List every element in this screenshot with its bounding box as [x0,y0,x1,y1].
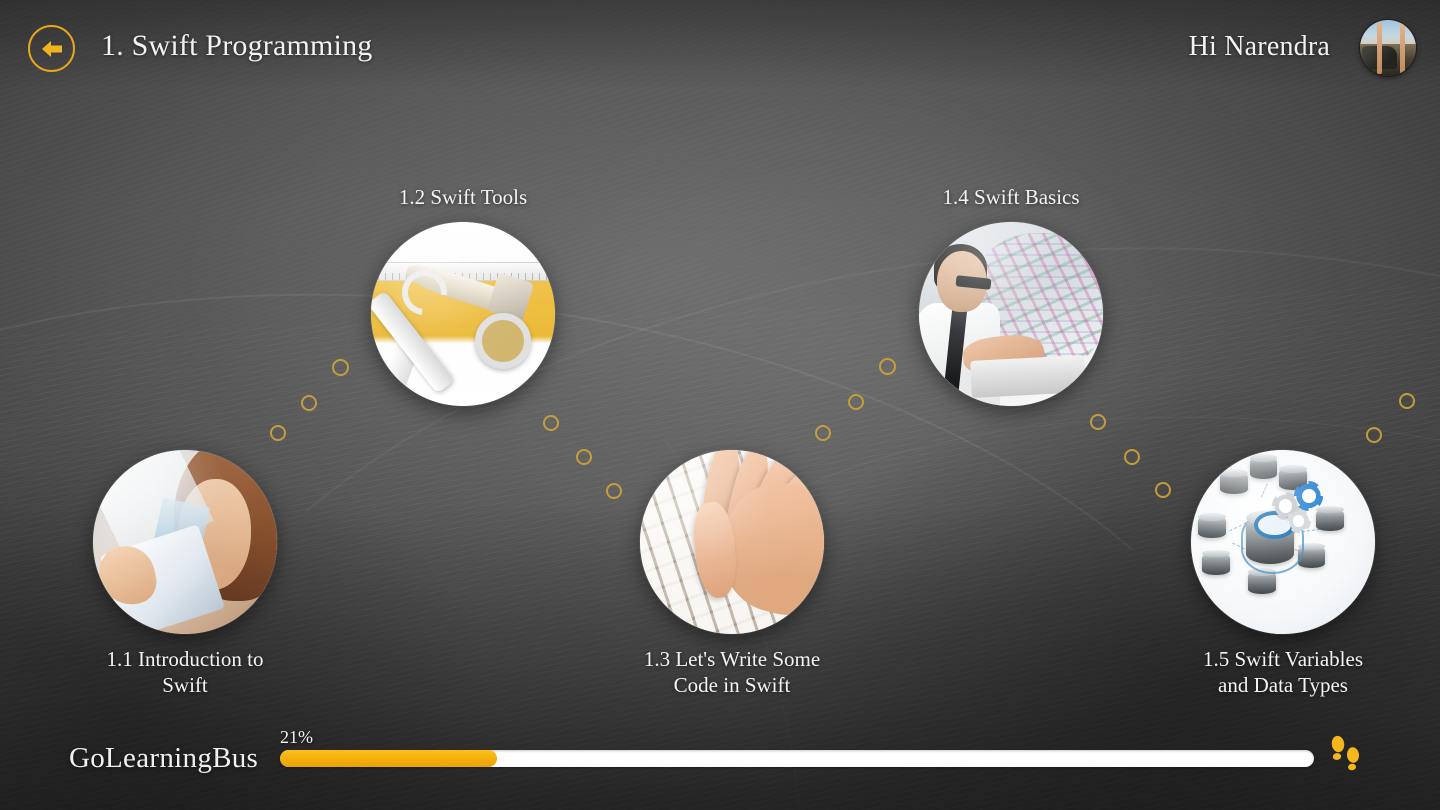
trail-ring [270,425,286,441]
topic-node-1-2[interactable]: 1.2 Swift Tools [371,222,555,406]
avatar-pole-right [1400,23,1405,73]
brand-label: GoLearningBus [69,742,258,775]
progress-percent-label: 21% [280,727,313,748]
topic-label: 1.2 Swift Tools [333,184,593,210]
progress-bar[interactable] [280,750,1314,767]
header-bar: 1. Swift Programming Hi Narendra [0,0,1440,96]
topic-thumbnail[interactable] [371,222,555,406]
avatar[interactable] [1360,20,1416,76]
topic-node-1-1[interactable]: 1.1 Introduction to Swift [93,450,277,634]
footer-bar: GoLearningBus 21% [0,710,1440,810]
topic-node-1-4[interactable]: 1.4 Swift Basics [919,222,1103,406]
progress-section: 21% [280,750,1314,767]
topic-node-1-3[interactable]: 1.3 Let's Write Some Code in Swift [640,450,824,634]
footsteps-icon[interactable] [1326,734,1366,776]
topic-label: 1.4 Swift Basics [881,184,1141,210]
progress-bar-fill [280,750,497,767]
topic-node-1-5[interactable]: 1.5 Swift Variables and Data Types [1191,450,1375,634]
trail-ring [606,483,622,499]
user-greeting: Hi Narendra [1189,31,1330,63]
back-arrow-icon [39,38,65,60]
trail-ring [879,358,896,375]
woman-reading-tablet-image [93,450,277,634]
trail-ring [1124,449,1140,465]
topic-thumbnail[interactable] [1191,450,1375,634]
trail-ring [543,415,559,431]
avatar-sky [1360,20,1416,46]
topic-thumbnail[interactable] [640,450,824,634]
trail-ring [1090,414,1106,430]
back-button[interactable] [28,25,75,72]
trail-ring [576,449,592,465]
wrench-and-hammer-image [371,222,555,406]
trail-ring [332,359,349,376]
hands-typing-keyboard-image [640,450,824,634]
topic-thumbnail[interactable] [93,450,277,634]
topic-label: 1.1 Introduction to Swift [55,646,315,698]
topic-thumbnail[interactable] [919,222,1103,406]
trail-ring [301,395,317,411]
trail-ring [1399,393,1415,409]
trail-ring [848,394,864,410]
topic-label: 1.5 Swift Variables and Data Types [1153,646,1413,698]
trail-ring [815,425,831,441]
course-path-screen: 1. Swift Programming Hi Narendra 1.1 Int [0,0,1440,810]
trail-ring [1366,427,1382,443]
trail-ring [1155,482,1171,498]
database-network-gears-image [1191,450,1375,634]
topic-label: 1.3 Let's Write Some Code in Swift [602,646,862,698]
avatar-pole-left [1377,23,1382,73]
woman-laptop-binary-image [919,222,1103,406]
page-title: 1. Swift Programming [101,29,373,63]
